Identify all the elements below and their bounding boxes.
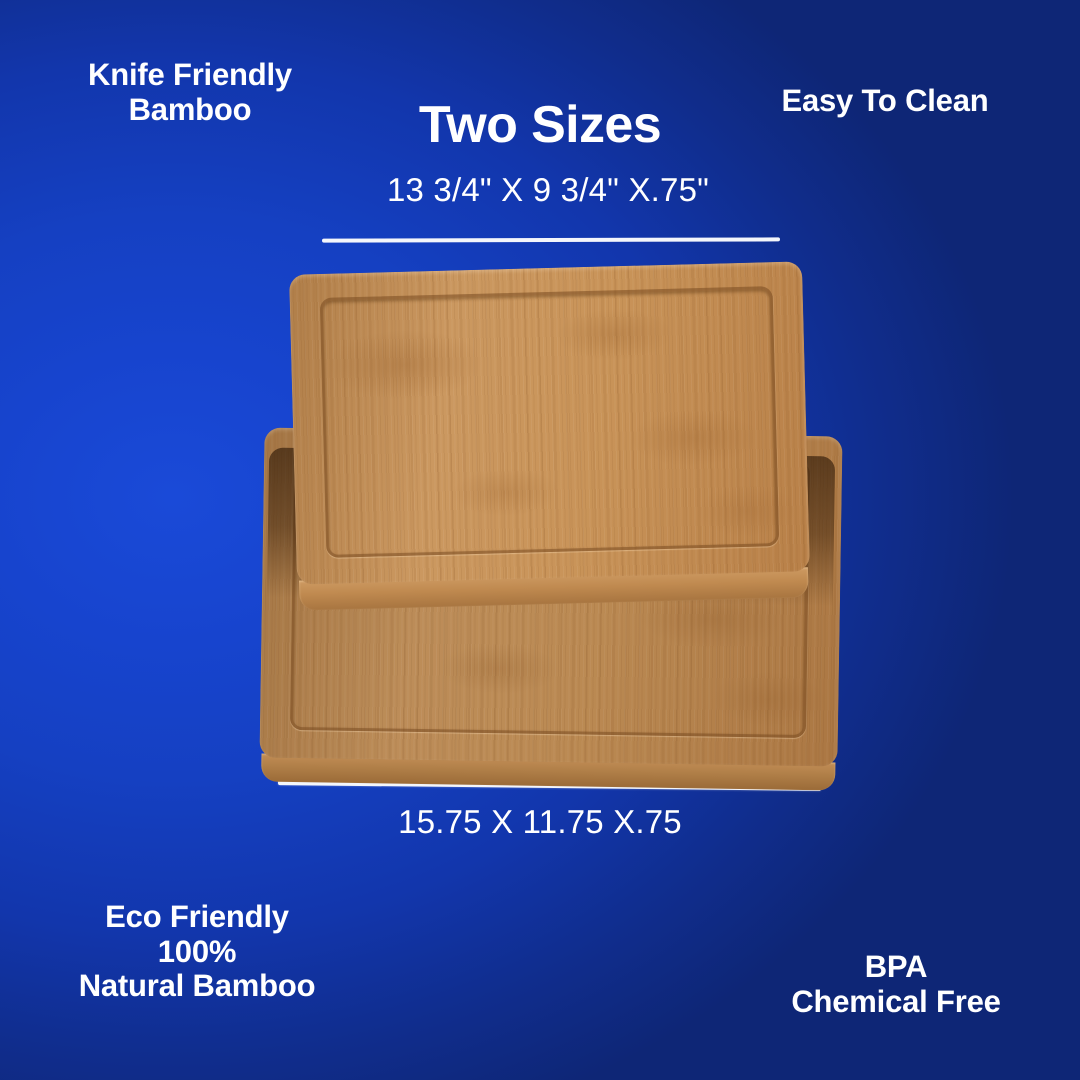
size-label-bottom-board: 15.75 X 11.75 X.75	[0, 804, 1080, 841]
cutting-board-small	[289, 261, 810, 584]
juice-groove	[320, 286, 780, 558]
product-marketing-image: Knife Friendly Bamboo Easy To Clean Eco …	[0, 0, 1080, 1080]
product-image-bamboo-boards	[0, 0, 1080, 1080]
